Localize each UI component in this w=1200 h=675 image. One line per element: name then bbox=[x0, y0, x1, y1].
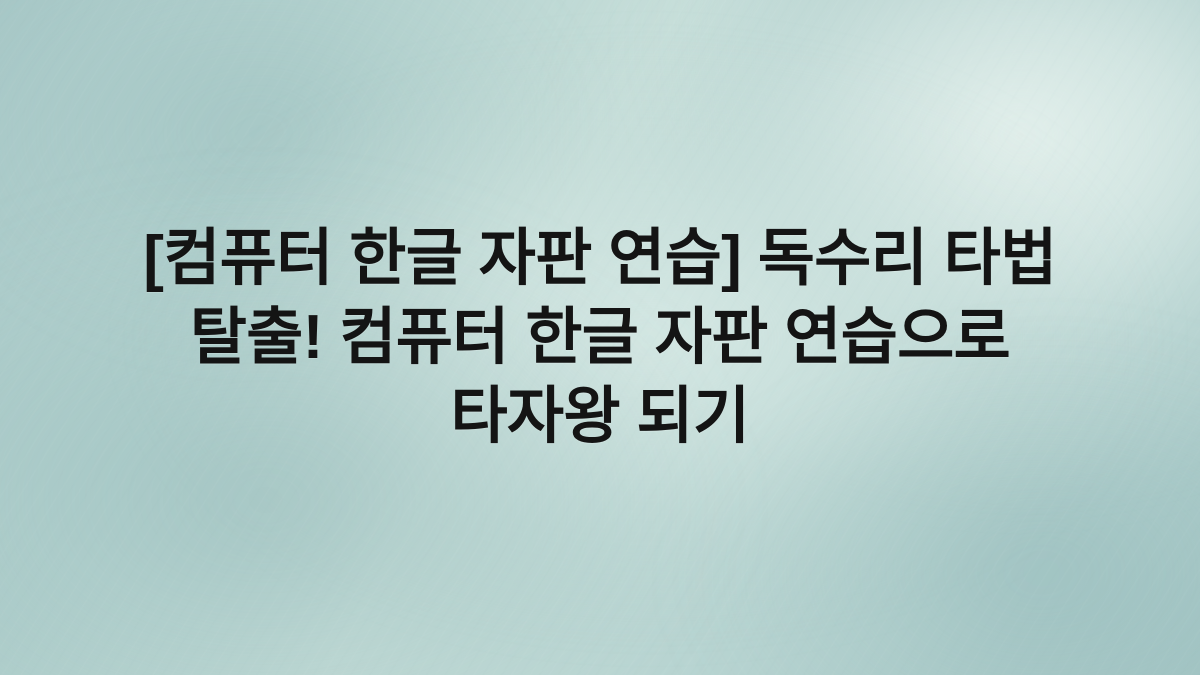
title-card: [컴퓨터 한글 자판 연습] 독수리 타법 탈출! 컴퓨터 한글 자판 연습으로… bbox=[0, 0, 1200, 675]
title-line-2: 탈출! 컴퓨터 한글 자판 연습으로 bbox=[143, 298, 1056, 377]
title-line-1: [컴퓨터 한글 자판 연습] 독수리 타법 bbox=[143, 219, 1056, 298]
page-title: [컴퓨터 한글 자판 연습] 독수리 타법 탈출! 컴퓨터 한글 자판 연습으로… bbox=[143, 219, 1056, 456]
title-line-3: 타자왕 되기 bbox=[143, 377, 1056, 456]
title-block: [컴퓨터 한글 자판 연습] 독수리 타법 탈출! 컴퓨터 한글 자판 연습으로… bbox=[0, 0, 1200, 675]
